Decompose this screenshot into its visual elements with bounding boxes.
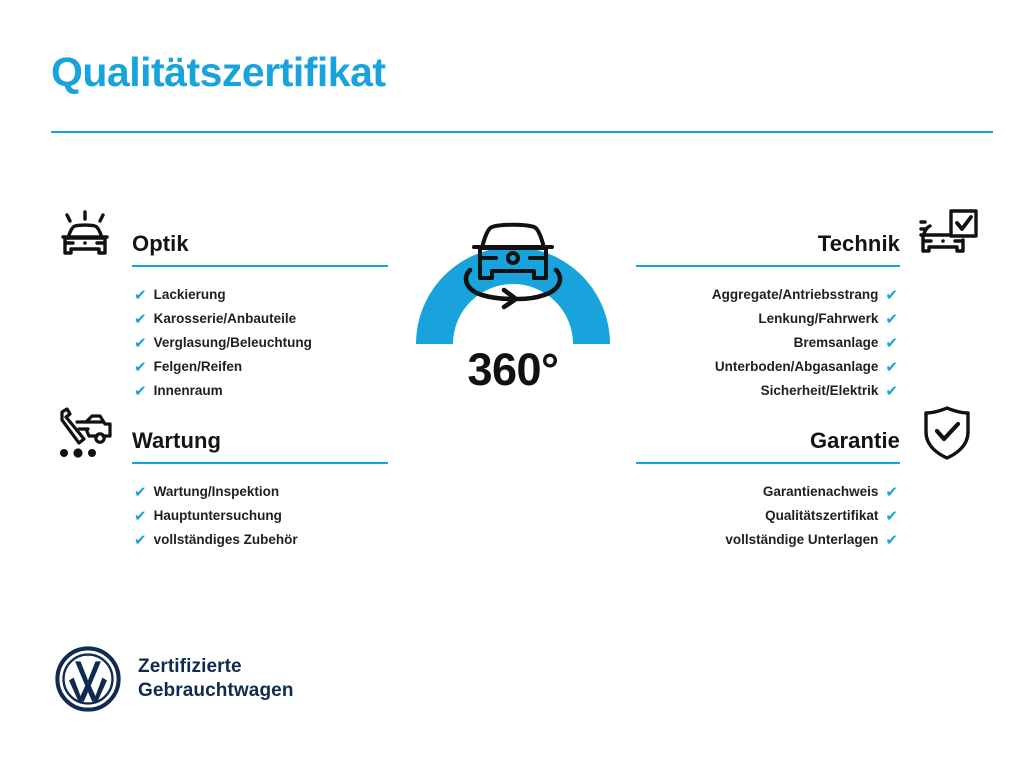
list-item-label: Lackierung (154, 288, 226, 302)
check-icon: ✔ (885, 533, 898, 548)
check-icon: ✔ (134, 336, 147, 351)
check-icon: ✔ (134, 360, 147, 375)
footer-line-1: Zertifizierte (138, 655, 294, 679)
volkswagen-logo (54, 645, 122, 713)
check-icon: ✔ (134, 485, 147, 500)
list-item: Lenkung/Fahrwerk✔ (636, 307, 984, 331)
list-item: Garantienachweis✔ (636, 480, 984, 504)
list-item-label: Unterboden/Abgasanlage (715, 360, 879, 374)
footer-line-2: Gebrauchtwagen (138, 679, 294, 703)
section-garantie-title: Garantie (810, 428, 900, 454)
check-icon: ✔ (885, 485, 898, 500)
list-item: Bremsanlage✔ (636, 331, 984, 355)
list-item: ✔vollständiges Zubehör (48, 528, 388, 552)
section-optik-title: Optik (132, 231, 189, 257)
section-technik-header: Technik (636, 205, 984, 273)
section-garantie-underline (636, 462, 900, 464)
section-optik: Optik ✔Lackierung ✔Karosserie/Anbauteile… (48, 205, 388, 403)
check-icon: ✔ (885, 312, 898, 327)
list-item: Unterboden/Abgasanlage✔ (636, 355, 984, 379)
section-optik-underline (132, 265, 388, 267)
list-item: ✔Wartung/Inspektion (48, 480, 388, 504)
footer-brand: Zertifizierte Gebrauchtwagen (54, 645, 294, 713)
footer-brand-text: Zertifizierte Gebrauchtwagen (138, 655, 294, 704)
section-technik-list: Aggregate/Antriebsstrang✔ Lenkung/Fahrwe… (636, 283, 984, 403)
car-checklist-icon (910, 205, 984, 267)
section-optik-list: ✔Lackierung ✔Karosserie/Anbauteile ✔Verg… (48, 283, 388, 403)
list-item-label: Innenraum (154, 384, 223, 398)
section-garantie-list: Garantienachweis✔ Qualitätszertifikat✔ v… (636, 480, 984, 552)
badge-degrees: 360° (378, 344, 648, 396)
list-item-label: Lenkung/Fahrwerk (758, 312, 878, 326)
check-icon: ✔ (885, 288, 898, 303)
section-wartung-list: ✔Wartung/Inspektion ✔Hauptuntersuchung ✔… (48, 480, 388, 552)
shield-check-icon (910, 402, 984, 464)
list-item: Sicherheit/Elektrik✔ (636, 379, 984, 403)
car-front-shine-icon (48, 205, 122, 267)
section-technik-title: Technik (818, 231, 900, 257)
list-item-label: Verglasung/Beleuchtung (154, 336, 312, 350)
check-icon: ✔ (134, 288, 147, 303)
check-icon: ✔ (885, 360, 898, 375)
list-item: Qualitätszertifikat✔ (636, 504, 984, 528)
list-item: ✔Karosserie/Anbauteile (48, 307, 388, 331)
list-item-label: Qualitätszertifikat (765, 509, 878, 523)
list-item-label: Sicherheit/Elektrik (761, 384, 879, 398)
section-technik: Technik Aggregate/Antriebsstrang✔ Lenkun… (636, 205, 984, 403)
list-item: ✔Lackierung (48, 283, 388, 307)
section-wartung-title: Wartung (132, 428, 221, 454)
wrench-car-service-icon (48, 402, 122, 464)
list-item: ✔Verglasung/Beleuchtung (48, 331, 388, 355)
list-item: vollständige Unterlagen✔ (636, 528, 984, 552)
section-wartung-header: Wartung (48, 402, 388, 470)
car-rotate-360-icon (454, 202, 572, 310)
list-item: ✔Innenraum (48, 379, 388, 403)
list-item-label: Bremsanlage (794, 336, 879, 350)
section-wartung: Wartung ✔Wartung/Inspektion ✔Hauptunters… (48, 402, 388, 552)
list-item-label: vollständige Unterlagen (725, 533, 878, 547)
section-garantie-header: Garantie (636, 402, 984, 470)
check-icon: ✔ (134, 509, 147, 524)
list-item: ✔Hauptuntersuchung (48, 504, 388, 528)
check-icon: ✔ (134, 384, 147, 399)
list-item-label: Felgen/Reifen (154, 360, 243, 374)
check-icon: ✔ (885, 384, 898, 399)
gebrauchtwagen-check-badge: Gebrauchtwagen-Check 360° (378, 196, 648, 486)
list-item-label: Karosserie/Anbauteile (154, 312, 297, 326)
list-item: Aggregate/Antriebsstrang✔ (636, 283, 984, 307)
check-icon: ✔ (134, 533, 147, 548)
check-icon: ✔ (885, 336, 898, 351)
page-title: Qualitätszertifikat (51, 50, 386, 95)
list-item-label: vollständiges Zubehör (154, 533, 298, 547)
list-item-label: Garantienachweis (763, 485, 879, 499)
section-optik-header: Optik (48, 205, 388, 273)
list-item: ✔Felgen/Reifen (48, 355, 388, 379)
list-item-label: Wartung/Inspektion (154, 485, 280, 499)
check-icon: ✔ (134, 312, 147, 327)
list-item-label: Aggregate/Antriebsstrang (712, 288, 879, 302)
section-technik-underline (636, 265, 900, 267)
section-garantie: Garantie Garantienachweis✔ Qualitätszert… (636, 402, 984, 552)
certificate-page: Qualitätszertifikat Optik (0, 0, 1024, 768)
check-icon: ✔ (885, 509, 898, 524)
list-item-label: Hauptuntersuchung (154, 509, 282, 523)
section-wartung-underline (132, 462, 388, 464)
title-divider (51, 131, 993, 133)
